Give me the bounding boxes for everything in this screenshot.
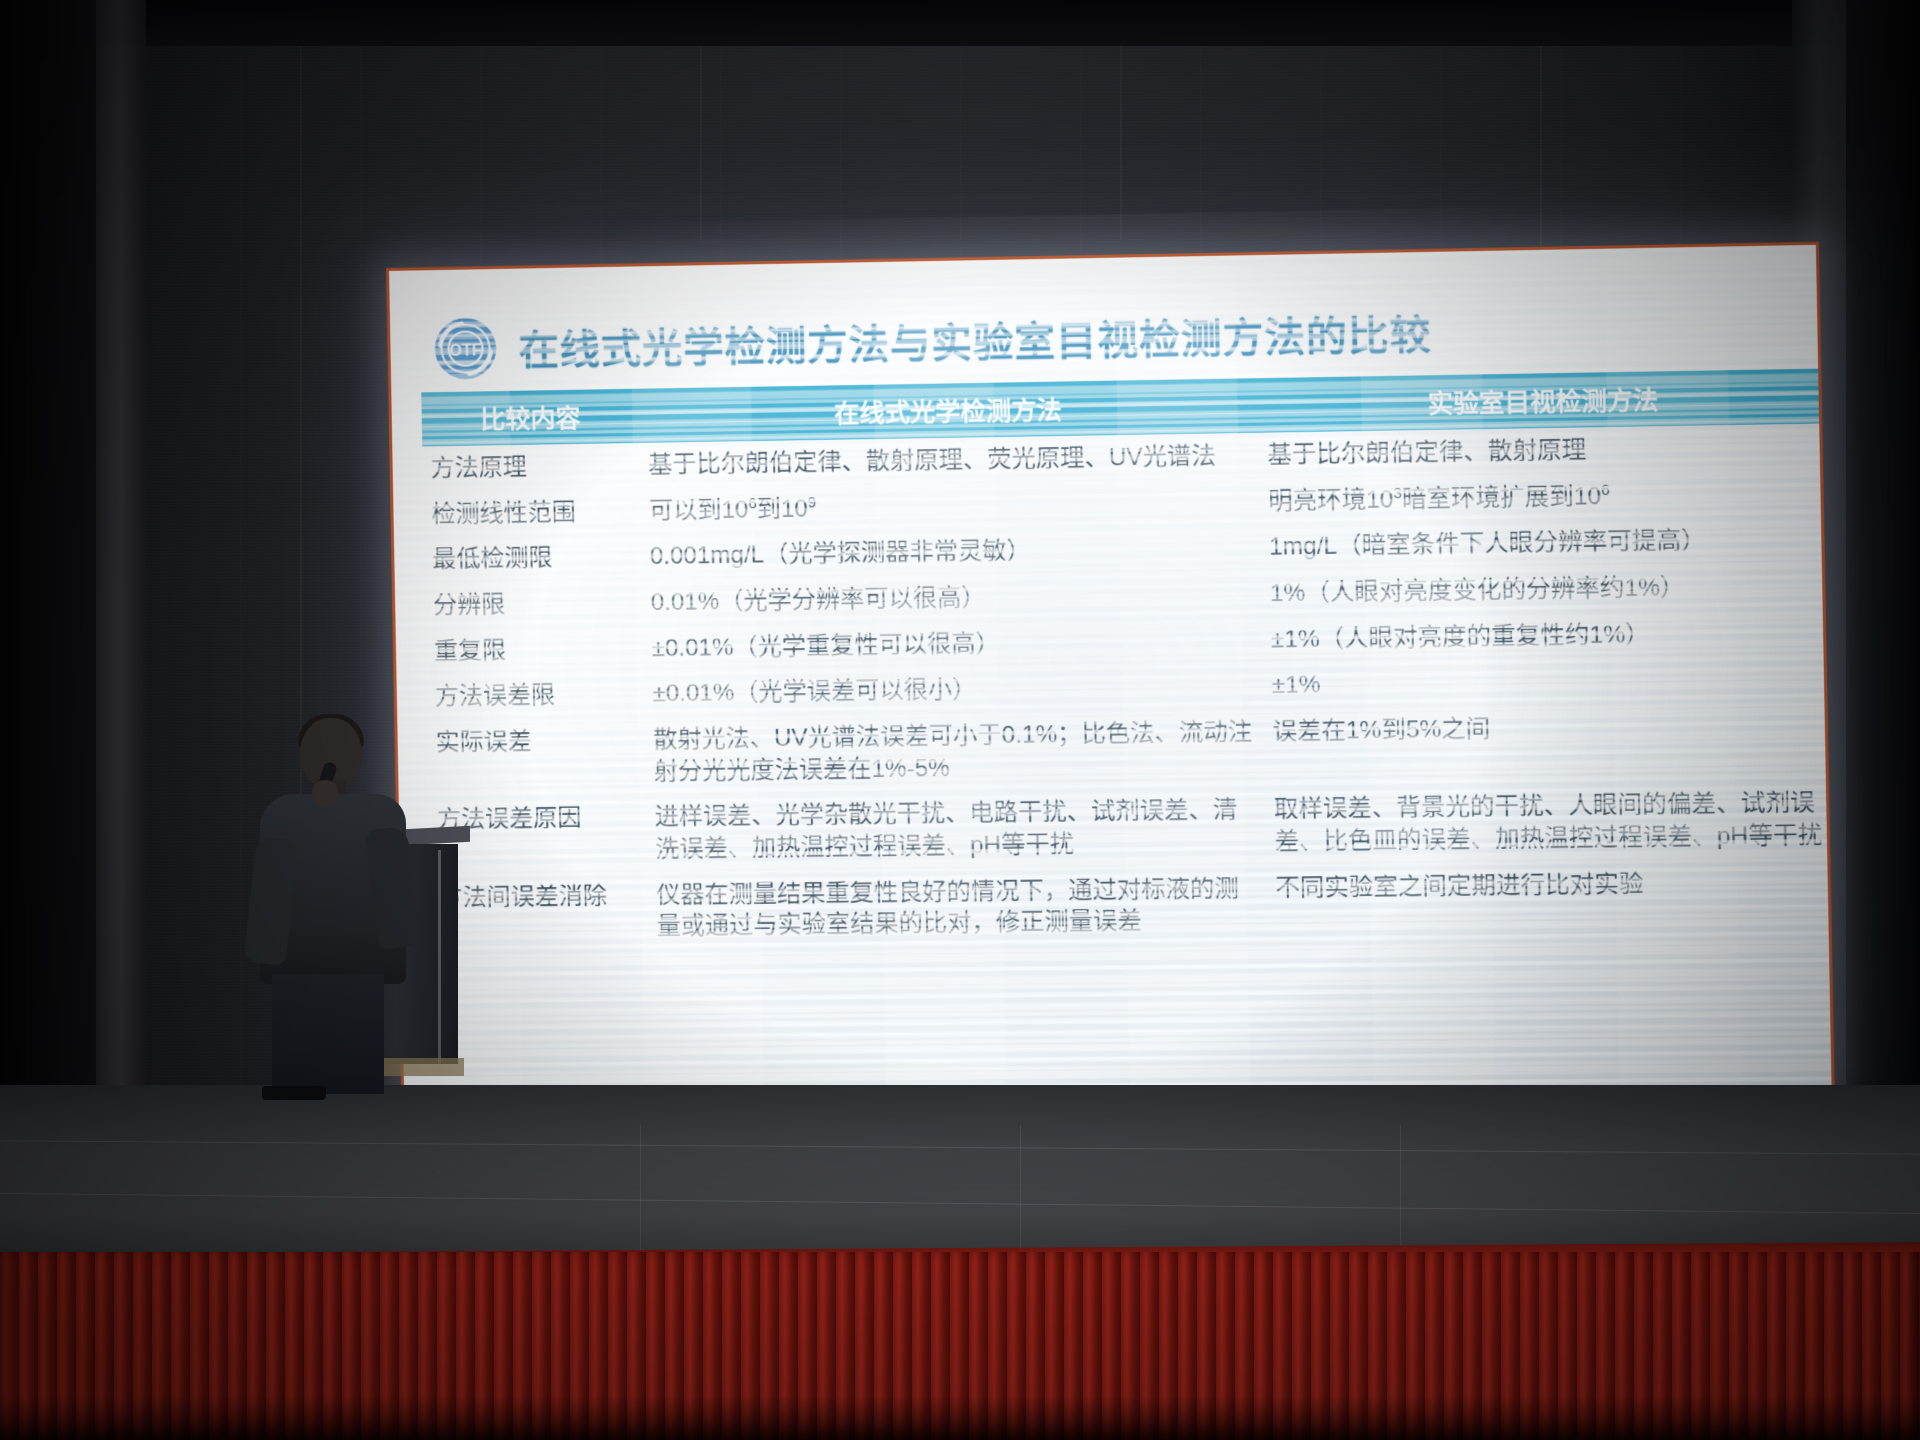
auditorium-stage: OTF 在线式光学检测方法与实验室目视检测方法的比较 比较内容 在线式光学检测方…: [0, 0, 1920, 1440]
presenter-hand: [312, 780, 338, 806]
floor-seam: [1400, 1125, 1401, 1265]
cell-visual: 误差在1%到5%之间: [1264, 702, 1832, 788]
col-header-optical: 在线式光学检测方法: [639, 378, 1259, 443]
row-label: 方法误差限: [426, 672, 644, 721]
row-label: 实际误差: [427, 718, 646, 798]
otf-logo-icon: OTF: [434, 317, 497, 380]
cell-optical: ±0.01%（光学误差可以很小）: [644, 663, 1264, 717]
row-label: 重复限: [426, 626, 644, 675]
floor-seam: [640, 1125, 641, 1265]
cell-optical: 散射光法、UV光谱法误差可小于0.1%；比色法、流动注射分光光度法误差在1%-5…: [645, 709, 1266, 795]
cell-visual: ±1%: [1263, 655, 1831, 709]
col-header-visual: 实验室目视检测方法: [1258, 369, 1830, 433]
podium-mic-stand: [438, 850, 441, 1066]
table-body: 方法原理 基于比尔朗伯定律、散射原理、荧光原理、UV光谱法 基于比尔朗伯定律、散…: [422, 423, 1831, 952]
stage-floor: [0, 1085, 1920, 1270]
cell-visual: 取样误差、背景光的干扰、人眼间的偏差、试剂误差、比色皿的误差、加热温控过程误差、…: [1265, 780, 1831, 865]
cell-visual: 不同实验室之间定期进行比对实验: [1267, 859, 1832, 944]
presenter-shoe: [262, 1086, 326, 1100]
row-label: 方法原理: [422, 443, 640, 492]
curtain-bottom-shadow: [0, 1395, 1920, 1440]
floor-seam: [1020, 1125, 1021, 1265]
row-label: 最低检测限: [424, 534, 642, 583]
comparison-table: 比较内容 在线式光学检测方法 实验室目视检测方法 方法原理 基于比尔朗伯定律、散…: [421, 369, 1831, 953]
presenter-legs: [272, 974, 384, 1094]
cell-optical: 仪器在测量结果重复性良好的情况下，通过对标液的测量或通过与实验室结果的比对，修正…: [648, 865, 1269, 950]
cell-visual: 1%（人眼对亮度变化的分辨率约1%）: [1261, 562, 1831, 617]
slide-content: OTF 在线式光学检测方法与实验室目视检测方法的比较 比较内容 在线式光学检测方…: [389, 245, 1832, 1103]
slide-header: OTF 在线式光学检测方法与实验室目视检测方法的比较: [434, 294, 1775, 380]
row-label: 方法间误差消除: [430, 873, 649, 953]
floor-seam: [0, 1140, 1920, 1154]
row-label: 检测线性范围: [423, 489, 641, 538]
presentation-screen[interactable]: OTF 在线式光学检测方法与实验室目视检测方法的比较 比较内容 在线式光学检测方…: [386, 242, 1835, 1106]
presenter: [246, 718, 418, 1088]
cell-optical: 进样误差、光学杂散光干扰、电路干扰、试剂误差、清洗误差、加热温控过程误差、pH等…: [646, 787, 1267, 872]
ceiling-shadow: [0, 0, 1920, 46]
row-label: 分辨限: [425, 580, 643, 629]
table-row: 方法间误差消除 仪器在测量结果重复性良好的情况下，通过对标液的测量或通过与实验室…: [430, 859, 1831, 953]
slide-title: 在线式光学检测方法与实验室目视检测方法的比较: [518, 302, 1432, 376]
screen-surface: OTF 在线式光学检测方法与实验室目视检测方法的比较 比较内容 在线式光学检测方…: [389, 245, 1832, 1103]
cell-visual: ±1%（人眼对亮度的重复性约1%）: [1262, 609, 1831, 663]
col-header-criteria: 比较内容: [421, 389, 640, 447]
stage-wing-right: [1846, 0, 1920, 1090]
svg-text:OTF: OTF: [449, 342, 482, 360]
floor-seam: [0, 1193, 1920, 1214]
stage-wing-left: [0, 0, 96, 1090]
